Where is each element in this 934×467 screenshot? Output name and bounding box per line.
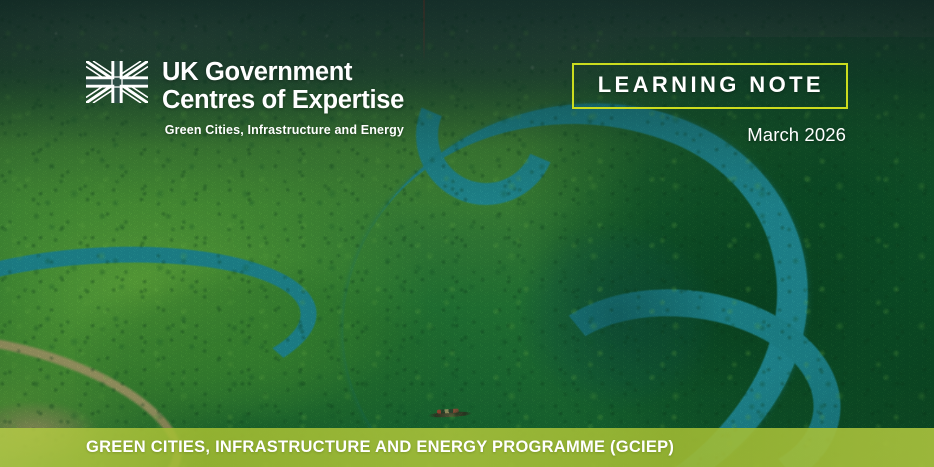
- logo-text-block: UK Government Centres of Expertise Green…: [162, 58, 404, 137]
- learning-note-badge-label: LEARNING NOTE: [598, 72, 824, 97]
- logo-line-2: Centres of Expertise: [162, 86, 404, 114]
- programme-banner: GREEN CITIES, INFRASTRUCTURE AND ENERGY …: [0, 428, 934, 467]
- learning-note-badge: LEARNING NOTE: [572, 63, 848, 109]
- logo-subtitle: Green Cities, Infrastructure and Energy: [165, 123, 404, 137]
- programme-banner-label: GREEN CITIES, INFRASTRUCTURE AND ENERGY …: [86, 438, 674, 457]
- logo-line-1: UK Government: [162, 58, 404, 86]
- uk-government-logo: UK Government Centres of Expertise Green…: [86, 58, 404, 137]
- union-jack-flag-icon: [86, 61, 148, 103]
- learning-note-cover: UK Government Centres of Expertise Green…: [0, 0, 934, 467]
- header-right-block: LEARNING NOTE March 2026: [572, 63, 848, 146]
- publication-date: March 2026: [747, 124, 846, 146]
- cover-header: UK Government Centres of Expertise Green…: [0, 0, 934, 150]
